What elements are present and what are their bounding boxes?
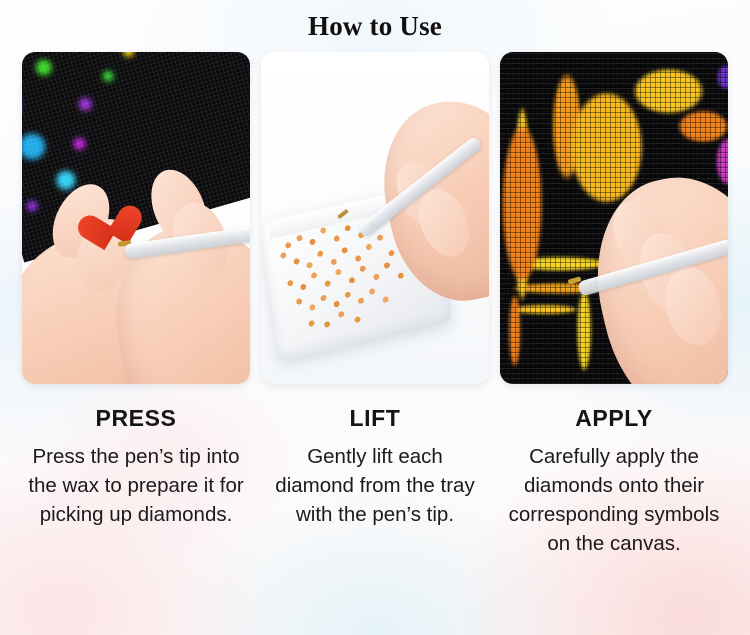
step-image-press: so bbox=[22, 52, 250, 384]
step-title-press: PRESS bbox=[22, 405, 250, 432]
step-body-apply: Carefully apply the diamonds onto their … bbox=[500, 442, 728, 558]
page-title: How to Use bbox=[0, 0, 750, 42]
step-captions-row: PRESS Press the pen’s tip into the wax t… bbox=[0, 405, 750, 558]
step-image-lift bbox=[261, 52, 489, 384]
step-body-lift: Gently lift each diamond from the tray w… bbox=[261, 442, 489, 529]
step-caption-press: PRESS Press the pen’s tip into the wax t… bbox=[22, 405, 250, 558]
step-title-lift: LIFT bbox=[261, 405, 489, 432]
step-image-apply bbox=[500, 52, 728, 384]
step-caption-lift: LIFT Gently lift each diamond from the t… bbox=[261, 405, 489, 558]
step-title-apply: APPLY bbox=[500, 405, 728, 432]
step-images-row: so bbox=[0, 52, 750, 387]
step-caption-apply: APPLY Carefully apply the diamonds onto … bbox=[500, 405, 728, 558]
step-body-press: Press the pen’s tip into the wax to prep… bbox=[22, 442, 250, 529]
how-to-use-infographic: How to Use so bbox=[0, 0, 750, 635]
